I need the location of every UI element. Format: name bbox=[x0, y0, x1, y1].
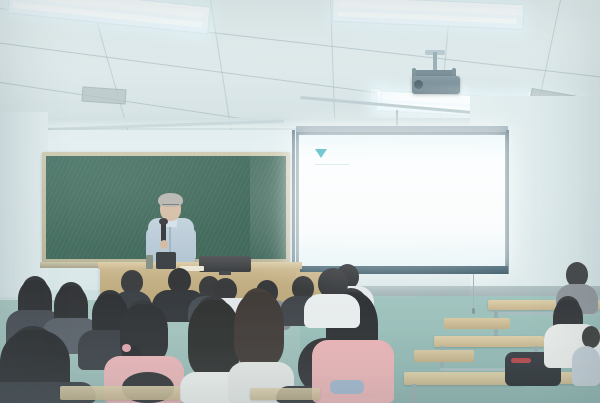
ceiling-vent-left bbox=[82, 86, 127, 104]
slide-bullet-icon bbox=[315, 149, 327, 158]
desk-foreground-mid[interactable] bbox=[250, 388, 320, 400]
podium-device bbox=[156, 252, 176, 269]
slide-line-4: · · · · · bbox=[333, 199, 491, 205]
slide-content: · · · · · · · · · · · · · · · · · · · · … bbox=[315, 149, 491, 205]
desk-foreground-left[interactable] bbox=[60, 386, 180, 400]
backpack-strap bbox=[511, 358, 531, 363]
slide-line-1: · · · · · · bbox=[315, 169, 491, 175]
desk-leg-near-left bbox=[412, 384, 416, 403]
podium-monitor bbox=[199, 256, 251, 272]
monitor-stand bbox=[219, 271, 231, 275]
screen-edge-right bbox=[506, 130, 509, 274]
slide-title: · · · · · bbox=[332, 150, 369, 157]
pencil-case[interactable] bbox=[330, 380, 364, 394]
left-wall bbox=[0, 112, 48, 297]
hair-tie bbox=[122, 344, 131, 352]
microphone-head bbox=[159, 218, 168, 225]
desk-row-mid[interactable] bbox=[434, 336, 544, 347]
screen-edge-left bbox=[292, 130, 295, 274]
projector-lens bbox=[414, 80, 423, 89]
lecture-hall-photo: · · · · · · · · · · · · · · · · · · · · … bbox=[0, 0, 600, 403]
chair-back-2[interactable] bbox=[414, 350, 474, 362]
microphone bbox=[161, 222, 166, 242]
slide-divider bbox=[315, 164, 349, 165]
slide-line-2: · · · · · · · bbox=[325, 179, 491, 185]
chair-back-1[interactable] bbox=[444, 318, 510, 329]
lecturer-hand bbox=[160, 240, 168, 249]
slide-line-3: · · · · · · · · · bbox=[333, 189, 491, 195]
lecturer-glasses bbox=[162, 204, 179, 209]
projection-screen-surface: · · · · · · · · · · · · · · · · · · · · … bbox=[299, 135, 505, 266]
podium-bottle bbox=[146, 255, 153, 269]
screen-pull-cord-right bbox=[473, 274, 474, 310]
